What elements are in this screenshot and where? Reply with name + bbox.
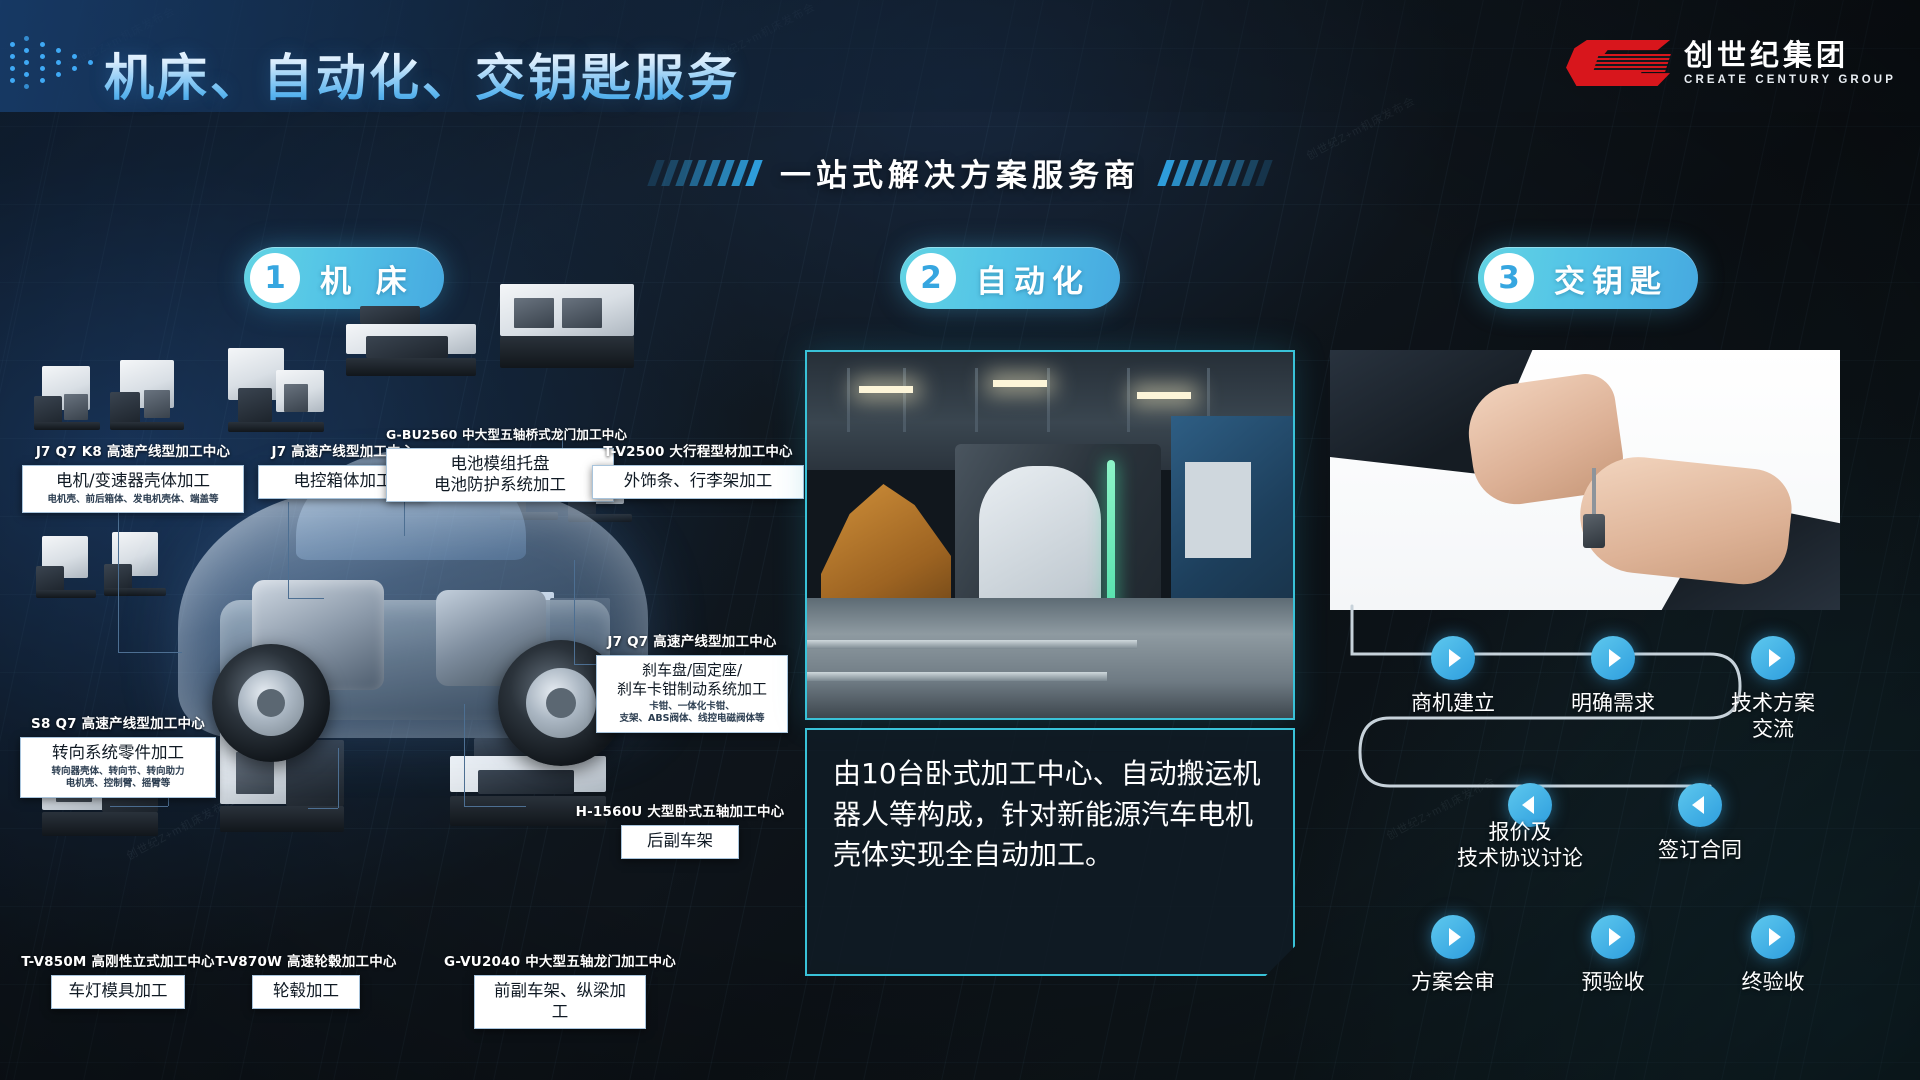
badge-number: 2 [906,253,956,303]
machine-model: J7 Q7 K8 高速产线型加工中心 [22,440,244,460]
badge-number: 3 [1484,253,1534,303]
slide-canvas: 创世纪Z+m机床发布会 创世纪Z+m机床发布会 创世纪Z+m机床发布会 创世纪Z… [0,0,1920,1080]
machine-app-text: 刹车盘/固定座/ 刹车卡钳制动系统加工 [609,661,775,699]
machine-image [500,284,634,368]
machine-application: 外饰条、行李架加工 [592,465,804,499]
machine-app-text: 外饰条、行李架加工 [605,471,791,492]
badge-number: 1 [250,253,300,303]
flow-node-4[interactable] [1678,783,1722,827]
flow-label-6: 方案会审 [1373,969,1533,995]
flow-label-2: 明确需求 [1533,690,1693,716]
badge-label: 机 床 [320,256,414,301]
machine-image [36,536,96,598]
flow-node-8[interactable] [1751,915,1795,959]
company-logo: 创世纪集团 CREATE CENTURY GROUP [1566,40,1896,86]
machine-app-text: 电池模组托盘 电池防护系统加工 [399,454,601,495]
flow-node-7[interactable] [1591,915,1635,959]
machine-image [228,348,324,432]
machine-model: G-BU2560 中大型五轴桥式龙门加工中心 [386,424,614,443]
machine-model: T-V870W 高速轮毂加工中心 [208,950,404,970]
connector-line [464,806,526,807]
machine-app-detail: 电机壳、前后箱体、发电机壳体、端盖等 [35,494,231,507]
machine-app-text: 车灯模具加工 [64,981,172,1002]
section-badge-machine-tools[interactable]: 1 机 床 [244,247,444,309]
machine-application: 电机/变速器壳体加工 电机壳、前后箱体、发电机壳体、端盖等 [22,465,244,513]
machine-application: 轮毂加工 [252,975,360,1009]
page-title: 机床、自动化、交钥匙服务 [104,38,740,110]
subtitle-bars-left-icon [652,160,758,186]
subtitle-row: 一站式解决方案服务商 [0,150,1920,195]
connector-line [464,704,465,806]
automation-description-text: 由10台卧式加工中心、自动搬运机器人等构成，针对新能源汽车电机壳体实现全自动加工… [807,730,1293,876]
machine-card: T-V850M 高刚性立式加工中心 车灯模具加工 [18,950,218,1009]
machine-application: 后副车架 [621,825,739,859]
machine-image [34,366,100,430]
connector-line [308,808,338,809]
logo-name-en: CREATE CENTURY GROUP [1684,74,1896,86]
flow-node-1[interactable] [1431,636,1475,680]
machine-card: S8 Q7 高速产线型加工中心 转向系统零件加工 转向器壳体、转向节、转向助力 … [20,712,216,798]
machine-app-text: 轮毂加工 [265,981,347,1002]
chevron-dots-icon [10,36,102,94]
flow-label-3: 技术方案 交流 [1693,690,1853,742]
connector-line [110,806,168,807]
machine-model: J7 Q7 高速产线型加工中心 [596,630,788,650]
flow-node-3[interactable] [1751,636,1795,680]
machine-app-detail: 转向器壳体、转向节、转向助力 电机壳、控制臂、摇臂等 [33,766,203,791]
flow-node-2[interactable] [1591,636,1635,680]
connector-line [288,598,324,599]
logo-name-cn: 创世纪集团 [1684,40,1896,70]
machine-image [104,532,166,596]
machine-card: T-V2500 大行程型材加工中心 外饰条、行李架加工 [592,440,804,499]
machine-application: 转向系统零件加工 转向器壳体、转向节、转向助力 电机壳、控制臂、摇臂等 [20,737,216,798]
automation-photo [805,350,1295,720]
machine-app-detail: 卡钳、一体化卡钳、 支架、ABS阀体、线控电磁阀体等 [609,701,775,726]
flow-label-8: 终验收 [1693,969,1853,995]
flow-label-4: 签订合同 [1620,837,1780,863]
machine-app-text: 后副车架 [634,831,726,852]
machine-app-text: 转向系统零件加工 [33,743,203,764]
machine-model: T-V2500 大行程型材加工中心 [592,440,804,460]
connector-line [288,502,289,598]
badge-label: 交钥匙 [1554,256,1668,301]
machine-model: H-1560U 大型卧式五轴加工中心 [574,800,786,820]
connector-line [118,652,182,653]
machine-model: G-VU2040 中大型五轴龙门加工中心 [438,950,682,970]
machine-image [346,306,476,376]
machine-card: J7 Q7 高速产线型加工中心 刹车盘/固定座/ 刹车卡钳制动系统加工 卡钳、一… [596,630,788,733]
key-icon [1592,468,1596,520]
machine-application: 前副车架、纵梁加工 [474,975,646,1029]
machine-application: 车灯模具加工 [51,975,185,1009]
section-badge-automation[interactable]: 2 自动化 [900,247,1120,309]
machine-card: H-1560U 大型卧式五轴加工中心 后副车架 [574,800,786,859]
machine-card: J7 Q7 K8 高速产线型加工中心 电机/变速器壳体加工 电机壳、前后箱体、发… [22,440,244,513]
machine-application: 电池模组托盘 电池防护系统加工 [386,448,614,502]
machine-model: T-V850M 高刚性立式加工中心 [18,950,218,970]
turnkey-photo [1330,350,1840,610]
connector-line [574,560,575,664]
flow-node-6[interactable] [1431,915,1475,959]
connector-line [118,504,119,652]
machine-card: G-VU2040 中大型五轴龙门加工中心 前副车架、纵梁加工 [438,950,682,1029]
cc-logo-icon [1566,40,1670,86]
machine-card: T-V870W 高速轮毂加工中心 轮毂加工 [208,950,404,1009]
machine-image [110,360,184,430]
connector-line [338,748,339,808]
flow-label-7: 预验收 [1533,969,1693,995]
flow-label-5: 报价及 技术协议讨论 [1420,819,1620,871]
automation-description-card: 由10台卧式加工中心、自动搬运机器人等构成，针对新能源汽车电机壳体实现全自动加工… [805,728,1295,976]
machine-model: S8 Q7 高速产线型加工中心 [20,712,216,732]
subtitle-text: 一站式解决方案服务商 [780,150,1140,195]
machine-app-text: 前副车架、纵梁加工 [487,981,633,1022]
machine-card: G-BU2560 中大型五轴桥式龙门加工中心 电池模组托盘 电池防护系统加工 [386,424,614,502]
flow-label-1: 商机建立 [1373,690,1533,716]
badge-label: 自动化 [976,256,1090,301]
subtitle-bars-right-icon [1162,160,1268,186]
section-badge-turnkey[interactable]: 3 交钥匙 [1478,247,1698,309]
machine-application: 刹车盘/固定座/ 刹车卡钳制动系统加工 卡钳、一体化卡钳、 支架、ABS阀体、线… [596,655,788,733]
machine-app-text: 电机/变速器壳体加工 [35,471,231,492]
